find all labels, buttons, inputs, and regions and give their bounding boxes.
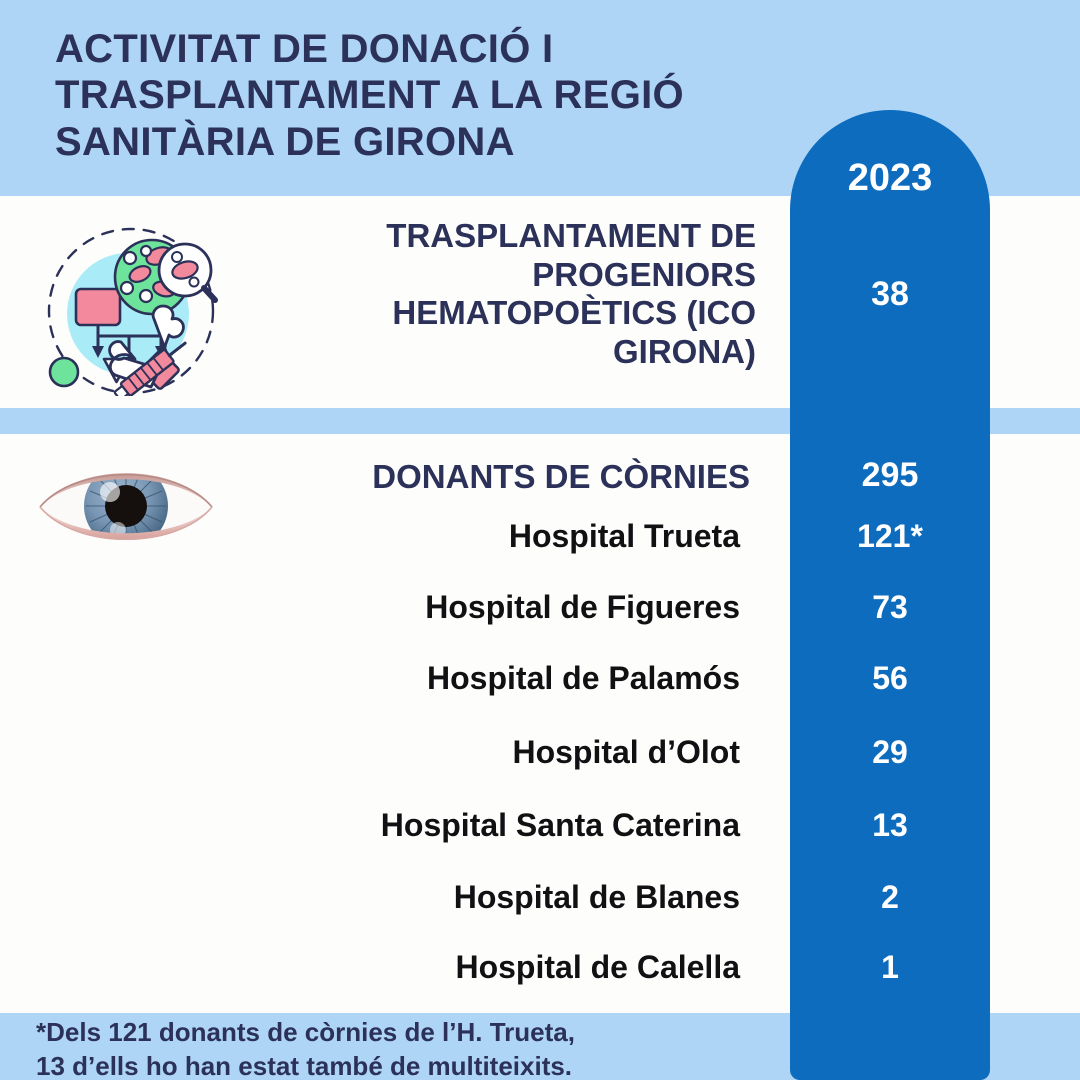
table-row: Hospital Santa Caterina 13 — [0, 807, 1080, 857]
table-row: Hospital de Blanes 2 — [0, 879, 1080, 929]
hospital-name: Hospital Trueta — [180, 518, 740, 555]
section-hematopoietic: TRASPLANTAMENT DE PROGENIORS HEMATOPOÈTI… — [0, 210, 790, 400]
table-row: Hospital Trueta 121* — [0, 518, 1080, 568]
hematopoietic-title: TRASPLANTAMENT DE PROGENIORS HEMATOPOÈTI… — [286, 217, 756, 371]
cornea-heading: DONANTS DE CÒRNIES — [230, 458, 750, 496]
hospital-value: 13 — [790, 807, 990, 844]
hospital-name: Hospital de Blanes — [180, 879, 740, 916]
hospital-value: 73 — [790, 589, 990, 626]
footnote-line-1: *Dels 121 donants de còrnies de l’H. Tru… — [36, 1016, 776, 1050]
cornea-heading-value: 295 — [790, 456, 990, 495]
table-row: Hospital de Figueres 73 — [0, 589, 1080, 639]
year-label: 2023 — [790, 157, 990, 200]
hematopoietic-value: 38 — [790, 275, 990, 314]
footnote: *Dels 121 donants de còrnies de l’H. Tru… — [36, 1016, 776, 1080]
table-row: Hospital de Palamós 56 — [0, 660, 1080, 710]
footnote-line-2: 13 d’ells ho han estat també de multitei… — [36, 1050, 776, 1080]
hospital-value: 1 — [790, 949, 990, 986]
hospital-value: 56 — [790, 660, 990, 697]
hospital-value: 121* — [790, 518, 990, 555]
hospital-name: Hospital de Figueres — [180, 589, 740, 626]
hospital-name: Hospital Santa Caterina — [180, 807, 740, 844]
hospital-value: 2 — [790, 879, 990, 916]
hospital-name: Hospital de Calella — [180, 949, 740, 986]
table-row: Hospital de Calella 1 — [0, 949, 1080, 999]
table-row: Hospital d’Olot 29 — [0, 734, 1080, 784]
hospital-name: Hospital de Palamós — [180, 660, 740, 697]
page-title: ACTIVITAT DE DONACIÓ I TRASPLANTAMENT A … — [55, 26, 785, 165]
infographic-root: ACTIVITAT DE DONACIÓ I TRASPLANTAMENT A … — [0, 0, 1080, 1080]
hospital-value: 29 — [790, 734, 990, 771]
hospital-name: Hospital d’Olot — [180, 734, 740, 771]
